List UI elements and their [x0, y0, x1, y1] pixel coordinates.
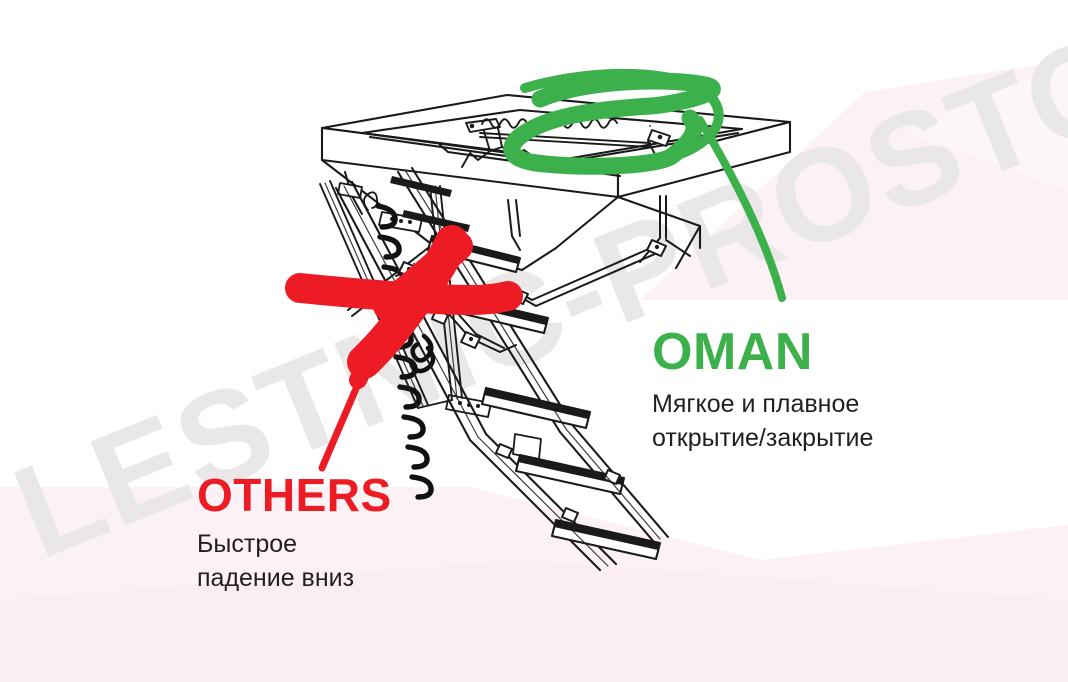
others-description-line1: Быстрое [197, 528, 497, 562]
others-callout: OTHERS Быстрое падение вниз [197, 472, 497, 596]
others-description-line2: падение вниз [197, 562, 497, 596]
oman-title: OMAN [652, 326, 982, 378]
oman-description: Мягкое и плавное открытие/закрытие [652, 388, 982, 456]
infographic-canvas: LESTNIC-PROSTO.RU [0, 0, 1068, 682]
oman-description-line2: открытие/закрытие [652, 422, 982, 456]
others-title: OTHERS [197, 472, 497, 518]
oman-callout: OMAN Мягкое и плавное открытие/закрытие [652, 326, 982, 456]
others-description: Быстрое падение вниз [197, 528, 497, 596]
oman-description-line1: Мягкое и плавное [652, 388, 982, 422]
